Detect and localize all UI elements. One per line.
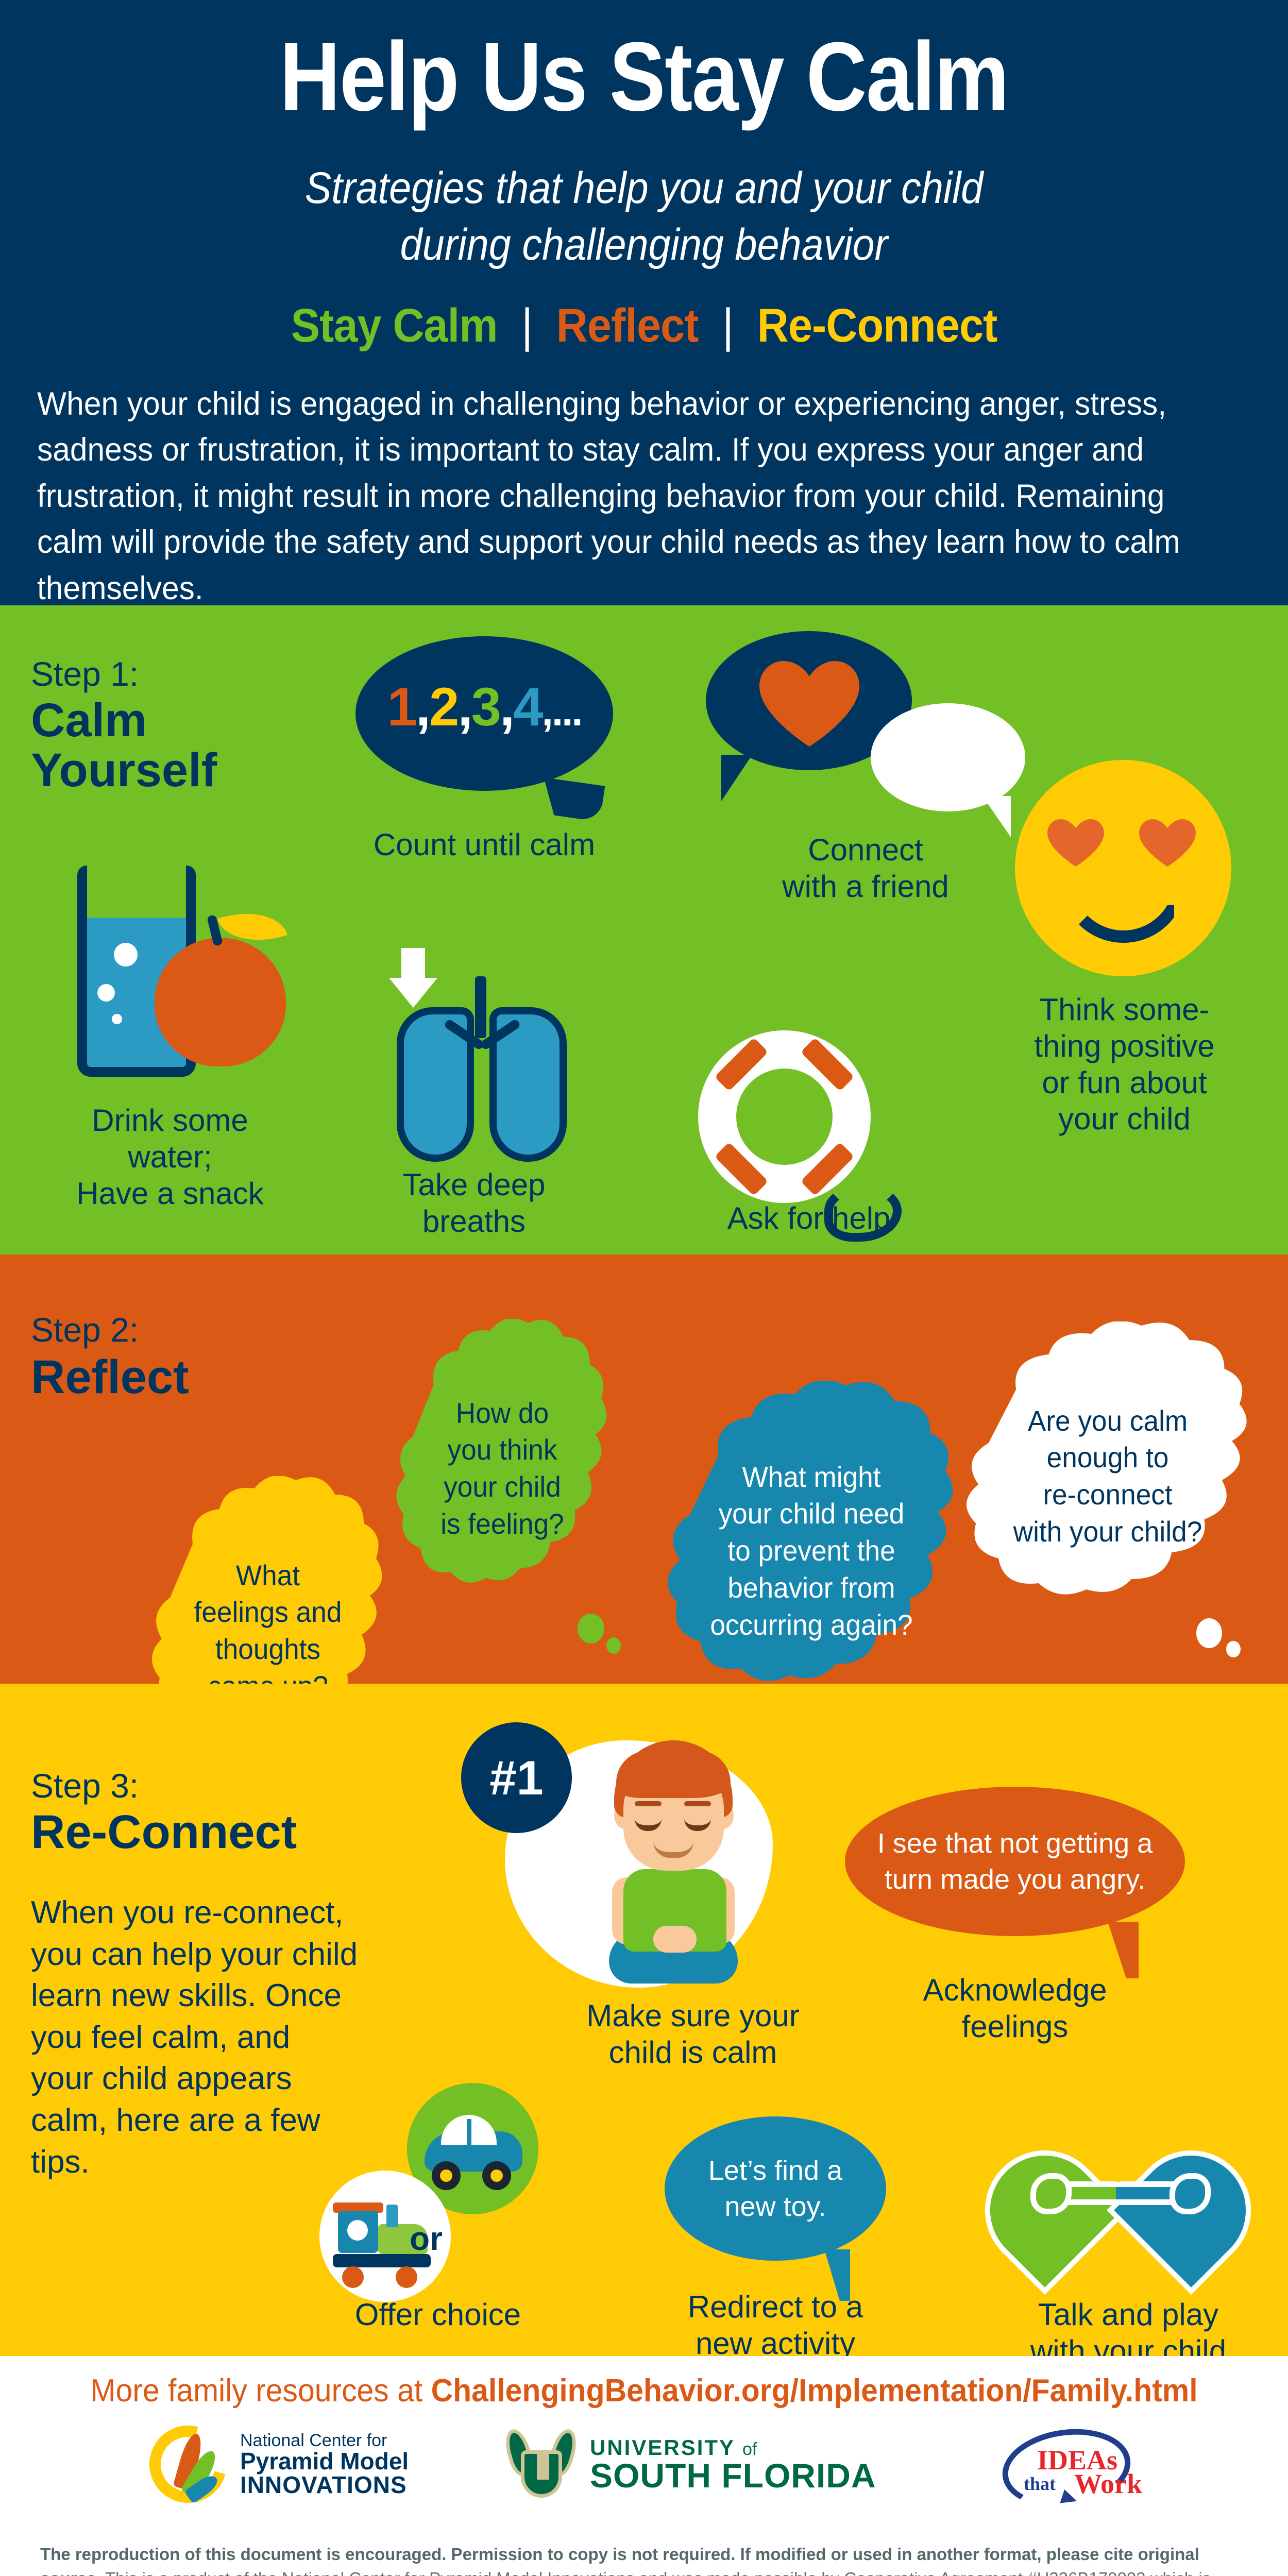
ncpmi-swoosh-icon <box>149 2426 227 2503</box>
step-trio: Stay Calm | Reflect | Re-Connect <box>52 299 1236 353</box>
usf-line-2: SOUTH FLORIDA <box>590 2459 876 2493</box>
resources-url[interactable]: ChallengingBehavior.org/Implementation/F… <box>431 2373 1198 2409</box>
step-2-title: Reflect <box>31 1352 189 1402</box>
car-roof <box>441 2115 497 2145</box>
bubble <box>97 984 115 1002</box>
caption-redirect-to-new-activity: Redirect to a new activity <box>608 2289 943 2362</box>
count-3: 3 <box>471 677 500 737</box>
step-1-label: Step 1: <box>31 654 139 693</box>
ncpmi-line-3: INNOVATIONS <box>240 2473 409 2497</box>
usf-bull-icon <box>507 2429 574 2501</box>
step-3-label: Step 3: <box>31 1766 139 1805</box>
ideas-line-3: Work <box>1074 2468 1142 2500</box>
caption-offer-choice: Offer choice <box>289 2297 587 2333</box>
train-wheel-b <box>396 2266 417 2288</box>
thought-cloud-how-do-you-think: How do you think your child is feeling? <box>394 1319 611 1618</box>
speech-text-redirect: Let’s find a new toy. <box>665 2116 886 2261</box>
car-wheel-right <box>482 2161 511 2190</box>
count-comma-1: , <box>416 677 429 737</box>
cloud-dot <box>1226 1641 1241 1657</box>
step-1-section: Step 1: Calm Yourself 1,2,3,4,... Count … <box>0 605 1288 1255</box>
logo-usf: UNIVERSITY of SOUTH FLORIDA <box>507 2429 876 2501</box>
caption-drink-water-have-snack: Drink some water; Have a snack <box>10 1103 330 1212</box>
cloud-text: How do you think your child is feeling? <box>400 1319 605 1618</box>
count-2: 2 <box>429 677 457 737</box>
caption-ask-for-help: Ask for help <box>654 1200 963 1237</box>
logo-ideas-that-work: IDEAs that Work <box>997 2426 1151 2518</box>
speech-bubble-redirect: Let’s find a new toy. <box>665 2116 886 2261</box>
trachea <box>475 976 486 1038</box>
resources-prefix: More family resources at <box>90 2373 431 2409</box>
ring-stripe <box>715 1038 769 1092</box>
heart-icon <box>755 658 863 748</box>
ring-stripe <box>715 1142 769 1196</box>
heart-eye-right-icon <box>1137 817 1198 868</box>
count-comma-3: , <box>500 677 513 737</box>
cloud-dot <box>606 1637 621 1654</box>
count-ellipsis: ,... <box>542 688 582 734</box>
hero-body-text: When your child is engaged in challengin… <box>37 381 1209 612</box>
child-brow-left <box>635 1801 662 1806</box>
bubble-tail <box>982 796 1011 837</box>
badge-number-one: #1 <box>461 1722 572 1833</box>
usf-line-1: UNIVERSITY <box>590 2435 735 2460</box>
cloud-dot <box>578 1614 604 1643</box>
step-1-title-line-1: Calm <box>31 696 217 745</box>
step-1-title-line-2: Yourself <box>31 745 217 795</box>
page-subtitle: Strategies that help you and your child … <box>64 160 1224 273</box>
hug-hand-right <box>1170 2173 1211 2214</box>
bubble-tail <box>539 777 605 822</box>
caption-count-until-calm: Count until calm <box>304 827 665 863</box>
heart-eye-left-icon <box>1045 817 1107 868</box>
hugging-heart-icon <box>1010 2091 1226 2297</box>
apple-icon <box>155 938 286 1066</box>
count-1: 1 <box>387 677 415 737</box>
step-1-title: Calm Yourself <box>31 696 217 795</box>
bubble-tail <box>721 755 752 801</box>
calm-child-illustration <box>587 1740 757 1982</box>
count-speech-bubble: 1,2,3,4,... <box>355 636 613 791</box>
step-3-title: Re-Connect <box>31 1807 297 1857</box>
ncpmi-line-2: Pyramid Model <box>240 2449 409 2473</box>
lungs-icon <box>397 1007 567 1162</box>
footer-section: More family resources at ChallengingBeha… <box>0 2356 1288 2576</box>
train-cab <box>338 2211 378 2253</box>
car-wheel-left <box>432 2161 461 2190</box>
cloud-text: What might your child need to prevent th… <box>672 1381 951 1721</box>
or-label: or <box>410 2219 443 2258</box>
count-4: 4 <box>513 677 541 737</box>
train-smokestack <box>386 2205 398 2227</box>
caption-take-deep-breaths: Take deep breaths <box>289 1167 659 1240</box>
cloud-dot <box>1196 1618 1222 1648</box>
bubble <box>112 1014 122 1024</box>
child-hair-fringe <box>616 1751 731 1798</box>
subtitle-line-1: Strategies that help you and your child <box>64 160 1224 216</box>
step-2-label: Step 2: <box>31 1310 139 1349</box>
heart-eyes-smiley-icon <box>1015 760 1231 976</box>
child-brow-right <box>684 1801 711 1806</box>
legal-rest-part: This is a product of the National Center… <box>40 2569 1211 2576</box>
resources-line: More family resources at ChallengingBeha… <box>32 2372 1256 2409</box>
subtitle-line-2: during challenging behavior <box>64 216 1224 273</box>
ideas-line-2: that <box>1024 2473 1056 2495</box>
hero-section: Help Us Stay Calm Strategies that help y… <box>0 0 1288 605</box>
hug-hand-left <box>1030 2173 1072 2214</box>
logo-ncpmi: National Center for Pyramid Model INNOVA… <box>149 2426 409 2503</box>
friend-bubble-light <box>871 703 1025 811</box>
bubble <box>114 943 138 967</box>
trio-stay-calm: Stay Calm <box>291 299 498 353</box>
legal-text: The reproduction of this document is enc… <box>40 2543 1251 2576</box>
caption-think-something-positive: Think some- thing positive or fun about … <box>1007 992 1242 1138</box>
life-ring-icon <box>698 1030 871 1203</box>
step-2-section: Step 2: Reflect What feelings and though… <box>0 1255 1288 1684</box>
smile-mouth <box>1060 876 1187 943</box>
step-3-section: Step 3: Re-Connect When you re-connect, … <box>0 1684 1288 2356</box>
speech-text-acknowledge: I see that not getting a turn made you a… <box>845 1787 1185 1936</box>
logo-row: National Center for Pyramid Model INNOVA… <box>0 2426 1288 2529</box>
thought-cloud-are-you-calm: Are you calm enough to re-connect with y… <box>963 1321 1252 1631</box>
cloud-text: Are you calm enough to re-connect with y… <box>971 1321 1245 1631</box>
trio-separator-1: | <box>509 299 545 353</box>
page-title: Help Us Stay Calm <box>90 21 1198 133</box>
trio-re-connect: Re-Connect <box>757 299 997 353</box>
step-3-paragraph: When you re-connect, you can help your c… <box>31 1892 361 2183</box>
train-wheel-a <box>342 2266 364 2288</box>
child-hands <box>653 1926 697 1953</box>
caption-connect-with-a-friend: Connect with a friend <box>701 832 1030 905</box>
caption-acknowledge-feelings: Acknowledge feelings <box>819 1972 1211 2045</box>
thought-cloud-what-might-child-need: What might your child need to prevent th… <box>665 1381 958 1721</box>
ring-stripe <box>801 1038 855 1092</box>
count-numbers: 1,2,3,4,... <box>355 676 613 738</box>
trio-reflect: Reflect <box>556 299 699 353</box>
speech-bubble-acknowledge: I see that not getting a turn made you a… <box>845 1787 1185 1936</box>
caption-make-sure-child-is-calm: Make sure your child is calm <box>528 1998 858 2071</box>
trio-separator-2: | <box>710 299 745 353</box>
ncpmi-line-1: National Center for <box>240 2432 409 2449</box>
count-comma-2: , <box>457 677 471 737</box>
